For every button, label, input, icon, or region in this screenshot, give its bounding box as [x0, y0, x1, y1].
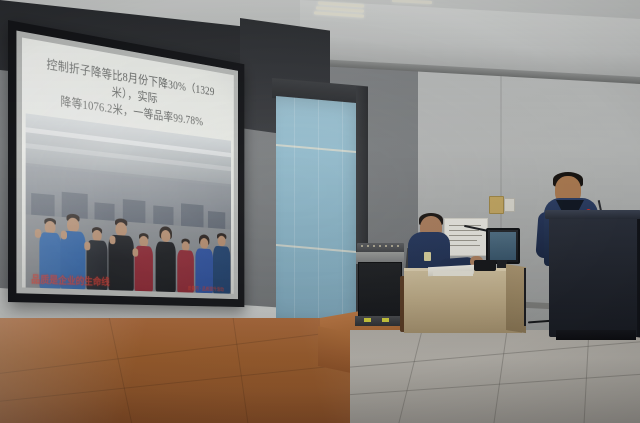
- projection-screen: 控制折子降等比8月份下降30%（1329米），实际 降等1076.2米，一等品率…: [8, 20, 244, 307]
- power-cable: [524, 268, 526, 326]
- equipment-rack-cabinet: [358, 262, 402, 322]
- rack-base: [355, 316, 405, 326]
- slide-person: [134, 228, 153, 292]
- desk-telephone[interactable]: [474, 260, 496, 271]
- podium: 华纺股份 HUAFANG COMPANY: [549, 215, 637, 337]
- slide-photo-caption: 品质是企业的生命线: [31, 271, 109, 288]
- rack-tape-marker: [364, 318, 371, 322]
- presentation-slide: 控制折子降等比8月份下降30%（1329米），实际 降等1076.2米，一等品率…: [22, 37, 234, 293]
- slide-photo: 品质是企业的生命线 质量月 · 品质提升活动: [26, 114, 231, 294]
- podium-base: [556, 330, 636, 340]
- presentation-room-photo: 控制折子降等比8月份下降30%（1329米），实际 降等1076.2米，一等品率…: [0, 0, 640, 423]
- slide-person: [155, 224, 177, 292]
- screen-surface: 控制折子降等比8月份下降30%（1329米），实际 降等1076.2米，一等品率…: [22, 37, 234, 293]
- slide-person: [212, 230, 231, 294]
- slide-photo-caption-small: 质量月 · 品质提升活动: [188, 285, 224, 292]
- wall-notice-sheet: [444, 218, 488, 256]
- operator-badge: [424, 252, 431, 261]
- podium-top-surface: [545, 210, 640, 219]
- wall-switch-plate[interactable]: [504, 198, 515, 212]
- monitor-screen: [490, 232, 516, 260]
- tiled-floor: [350, 330, 640, 423]
- screen-inner-border: 控制折子降等比8月份下降30%（1329米），实际 降等1076.2米，一等品率…: [16, 31, 238, 300]
- blue-curtain-panel: [276, 96, 366, 330]
- slide-person: [195, 230, 214, 293]
- slide-person: [177, 233, 195, 293]
- desk-monitor[interactable]: [486, 228, 520, 264]
- wall-outlet-plate[interactable]: [489, 196, 504, 214]
- control-desk-side: [506, 264, 526, 333]
- desk-papers: [433, 271, 473, 276]
- rack-tape-marker: [382, 318, 389, 322]
- slide-person: [108, 217, 134, 291]
- control-desk: [404, 268, 522, 333]
